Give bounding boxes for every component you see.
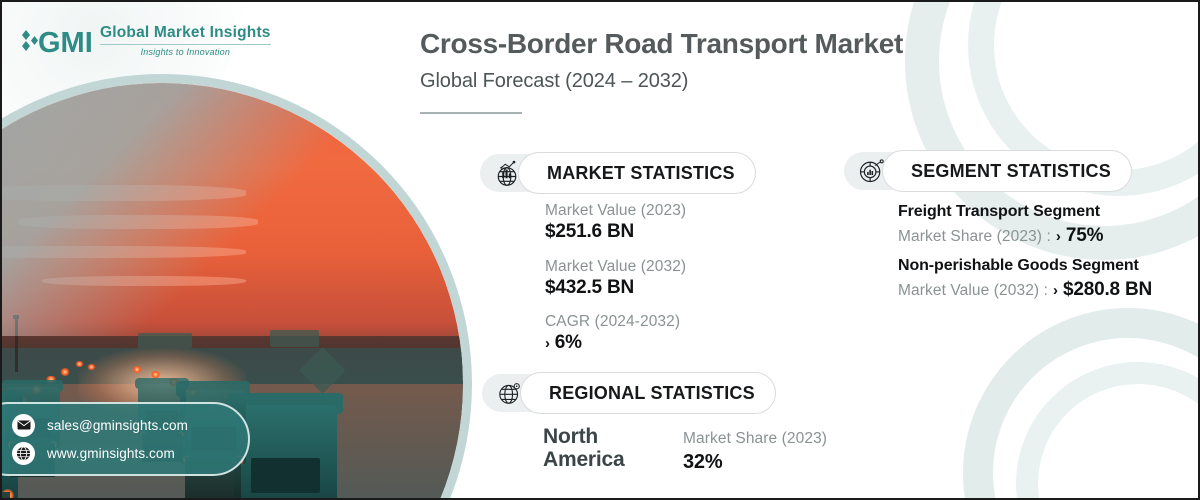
decor-arc-bottom-right-outer <box>963 308 1200 500</box>
brand-tagline: Insights to Innovation <box>100 45 271 57</box>
market-stat-item-1: Market Value (2032) $432.5 BN <box>545 258 686 299</box>
segment-stat-item-0: Freight Transport Segment Market Share (… <box>898 203 1103 247</box>
contact-email-text: sales@gminsights.com <box>47 418 188 433</box>
envelope-icon <box>12 414 35 437</box>
segment-stat-label: Market Value (2032) : <box>898 282 1048 300</box>
svg-text:GMI: GMI <box>38 27 92 58</box>
regional-share-block: Market Share (2023) 32% <box>683 430 827 474</box>
market-stat-item-0: Market Value (2023) $251.6 BN <box>545 202 686 243</box>
hero-overlay-tint <box>0 83 463 336</box>
chevron-right-icon: › <box>545 335 550 352</box>
market-stat-label: Market Value (2023) <box>545 202 686 220</box>
regional-statistics-header: REGIONAL STATISTICS <box>482 372 776 414</box>
market-stat-value: $432.5 BN <box>545 277 686 299</box>
regional-region-name: North America <box>543 426 663 471</box>
segment-stat-value: $280.8 BN <box>1063 279 1152 301</box>
segment-stat-label: Market Share (2023) : <box>898 228 1051 246</box>
infographic-canvas: sales@gminsights.com www.gminsights.com <box>0 0 1200 500</box>
segment-statistics-heading: SEGMENT STATISTICS <box>882 150 1132 192</box>
segment-stat-item-1: Non-perishable Goods Segment Market Valu… <box>898 257 1152 301</box>
hero-distant-light <box>60 368 71 375</box>
region-label: North America <box>543 426 663 471</box>
market-statistics-header: MARKET STATISTICS <box>480 152 756 194</box>
market-stat-value-row: › 6% <box>545 332 680 354</box>
brand-logo-text: Global Market Insights Insights to Innov… <box>100 25 271 57</box>
contact-pill: sales@gminsights.com www.gminsights.com <box>0 402 250 476</box>
contact-row-email[interactable]: sales@gminsights.com <box>12 414 248 437</box>
hero-distant-light <box>75 361 84 367</box>
page-title: Cross-Border Road Transport Market <box>420 28 903 60</box>
title-divider <box>420 112 522 114</box>
market-stat-label: Market Value (2032) <box>545 258 686 276</box>
market-stat-label: CAGR (2024-2032) <box>545 313 680 331</box>
page-subtitle: Global Forecast (2024 – 2032) <box>420 70 688 93</box>
regional-share-value: 32% <box>683 451 827 474</box>
decor-arc-bottom-right-inner <box>1016 362 1200 500</box>
hero-truck-right <box>234 405 336 500</box>
market-stat-value: $251.6 BN <box>545 221 686 243</box>
contact-website-text: www.gminsights.com <box>47 446 175 461</box>
contact-row-website[interactable]: www.gminsights.com <box>12 442 248 465</box>
brand-name: Global Market Insights <box>100 25 271 45</box>
hero-distant-light <box>132 366 142 373</box>
regional-share-label: Market Share (2023) <box>683 430 827 448</box>
segment-stat-row: Market Share (2023) : › 75% <box>898 225 1103 247</box>
chevron-right-icon: › <box>1053 282 1058 299</box>
regional-statistics-heading: REGIONAL STATISTICS <box>520 372 776 414</box>
segment-stat-row: Market Value (2032) : › $280.8 BN <box>898 279 1152 301</box>
segment-stat-title: Non-perishable Goods Segment <box>898 257 1152 275</box>
brand-logo[interactable]: GMI Global Market Insights Insights to I… <box>18 24 271 58</box>
market-statistics-heading: MARKET STATISTICS <box>518 152 756 194</box>
market-stat-item-2: CAGR (2024-2032) › 6% <box>545 313 680 354</box>
segment-stat-value: 75% <box>1066 225 1103 247</box>
globe-www-icon <box>12 442 35 465</box>
hero-distant-light <box>150 371 161 378</box>
gmi-diamond-logo-icon: GMI <box>18 24 92 58</box>
market-stat-value: 6% <box>555 332 582 354</box>
chevron-right-icon: › <box>1056 228 1061 245</box>
segment-stat-title: Freight Transport Segment <box>898 203 1103 221</box>
segment-statistics-header: SEGMENT STATISTICS <box>844 150 1132 192</box>
